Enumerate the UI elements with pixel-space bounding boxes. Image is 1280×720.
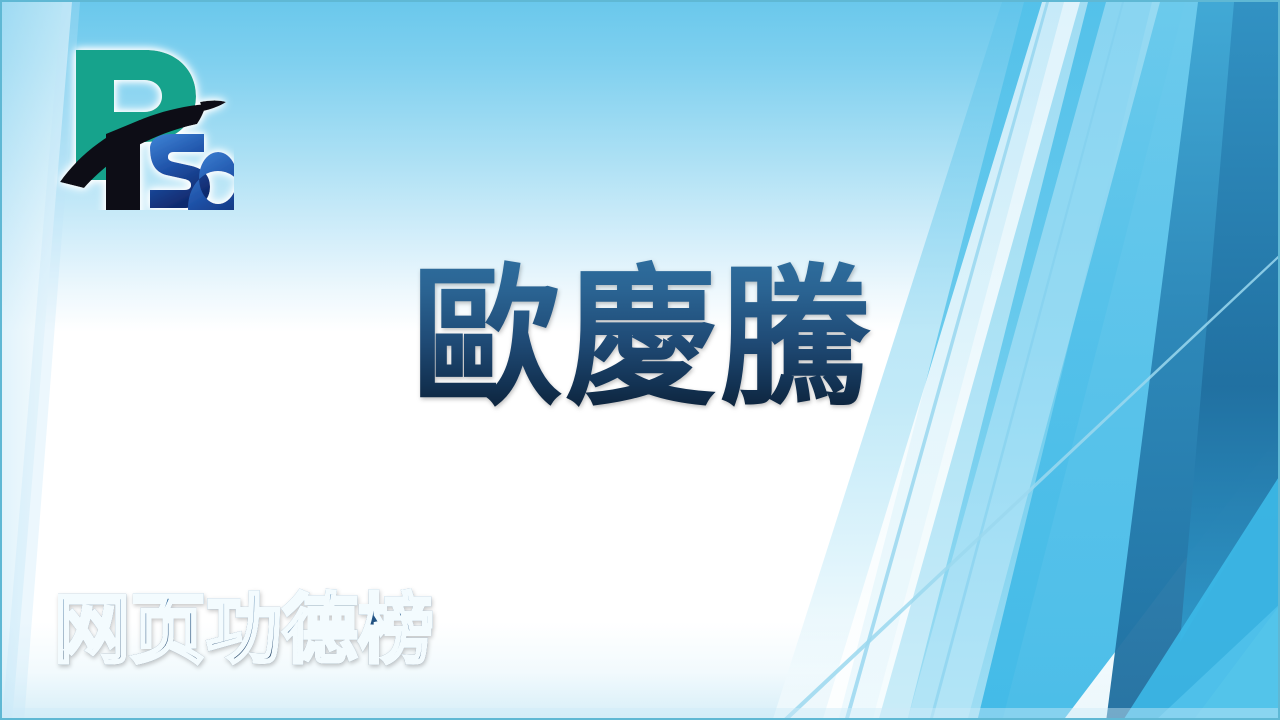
- logo-swoosh-tip: [200, 101, 226, 112]
- right-facet-group: [772, 2, 1280, 720]
- presentation-slide: 歐慶騰 网页功德榜: [0, 0, 1280, 720]
- logo-letters-so: [150, 134, 234, 210]
- logo-stem: [106, 120, 140, 210]
- bottom-band-group: [2, 708, 1280, 720]
- pso-logo: [54, 30, 234, 210]
- logo-mark: [60, 50, 234, 210]
